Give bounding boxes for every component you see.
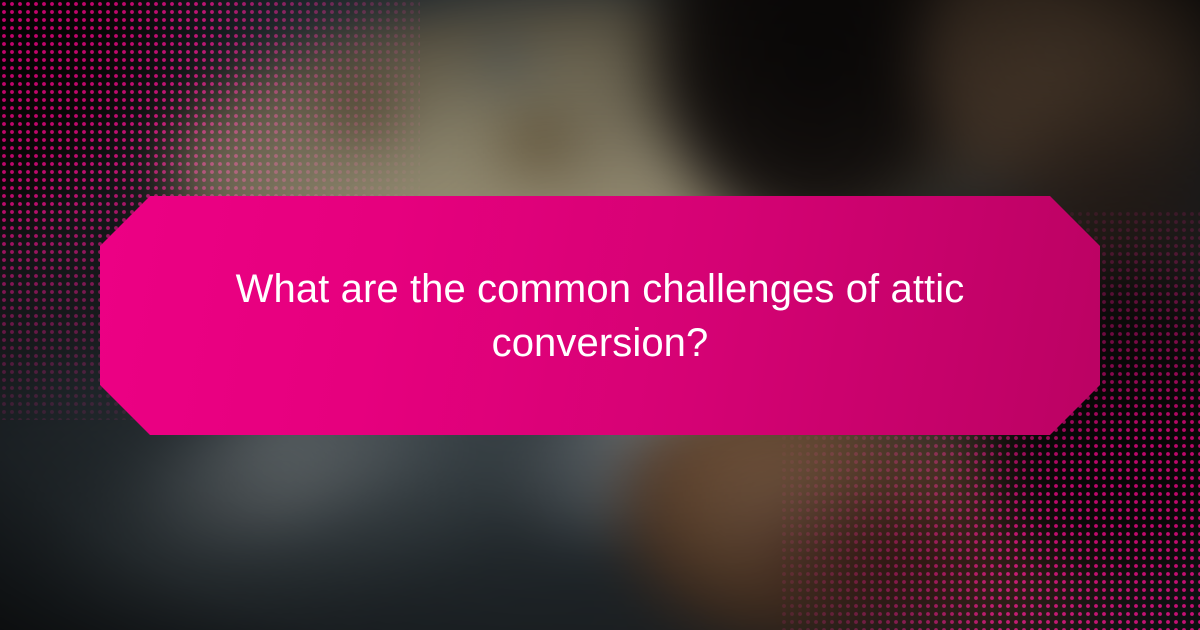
page-title: What are the common challenges of attic … [220, 262, 980, 370]
share-card-canvas: What are the common challenges of attic … [0, 0, 1200, 630]
title-banner: What are the common challenges of attic … [100, 196, 1100, 435]
